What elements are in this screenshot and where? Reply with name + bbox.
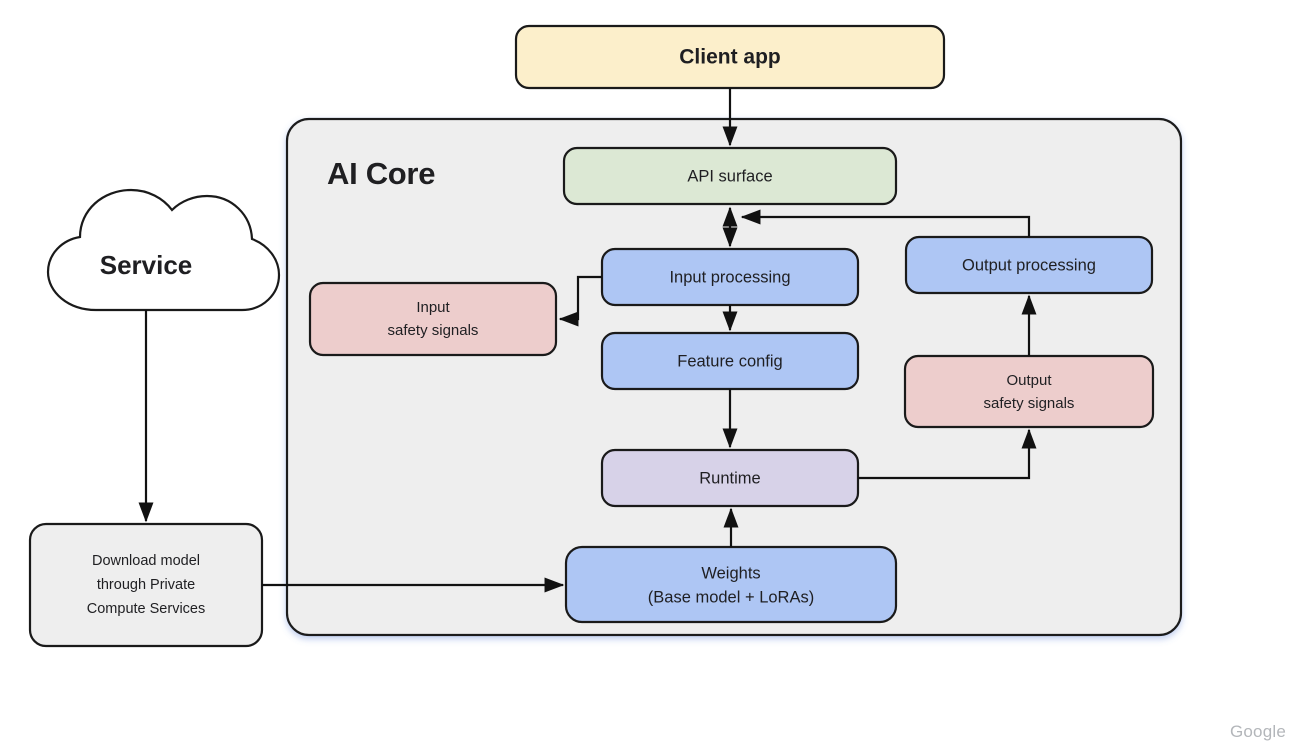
output-processing-node[interactable]: Output processing bbox=[906, 237, 1152, 293]
service-cloud-node[interactable]: Service bbox=[48, 190, 279, 310]
input-safety-signals-label-line1: Input bbox=[416, 299, 450, 316]
download-model-label-line2: through Private bbox=[97, 577, 195, 593]
input-safety-signals-shape[interactable] bbox=[310, 283, 556, 355]
input-processing-node[interactable]: Input processing bbox=[602, 249, 858, 305]
weights-shape[interactable] bbox=[566, 547, 896, 622]
input-safety-signals-label-line2: safety signals bbox=[388, 322, 479, 339]
api-surface-node[interactable]: API surface bbox=[564, 148, 896, 204]
service-cloud-label: Service bbox=[100, 250, 193, 280]
diagram-canvas: AI Core Client app Service Download mode… bbox=[0, 0, 1304, 756]
weights-label-line2: (Base model + LoRAs) bbox=[648, 588, 814, 606]
weights-label-line1: Weights bbox=[701, 564, 760, 582]
output-processing-label: Output processing bbox=[962, 256, 1096, 274]
download-model-node[interactable]: Download model through Private Compute S… bbox=[30, 524, 262, 646]
google-watermark: Google bbox=[1230, 722, 1286, 742]
feature-config-label: Feature config bbox=[677, 352, 782, 370]
ai-core-label: AI Core bbox=[327, 156, 435, 191]
client-app-label: Client app bbox=[679, 46, 781, 69]
output-safety-signals-label-line2: safety signals bbox=[984, 395, 1075, 412]
input-safety-signals-node[interactable]: Input safety signals bbox=[310, 283, 556, 355]
weights-node[interactable]: Weights (Base model + LoRAs) bbox=[566, 547, 896, 622]
api-surface-label: API surface bbox=[687, 167, 772, 185]
input-processing-label: Input processing bbox=[669, 268, 790, 286]
client-app-node[interactable]: Client app bbox=[516, 26, 944, 88]
output-safety-signals-node[interactable]: Output safety signals bbox=[905, 356, 1153, 427]
runtime-node[interactable]: Runtime bbox=[602, 450, 858, 506]
output-safety-signals-label-line1: Output bbox=[1006, 372, 1052, 389]
download-model-label-line3: Compute Services bbox=[87, 601, 205, 617]
architecture-diagram: AI Core Client app Service Download mode… bbox=[0, 0, 1304, 756]
feature-config-node[interactable]: Feature config bbox=[602, 333, 858, 389]
download-model-label-line1: Download model bbox=[92, 553, 200, 569]
runtime-label: Runtime bbox=[699, 469, 760, 487]
output-safety-signals-shape[interactable] bbox=[905, 356, 1153, 427]
